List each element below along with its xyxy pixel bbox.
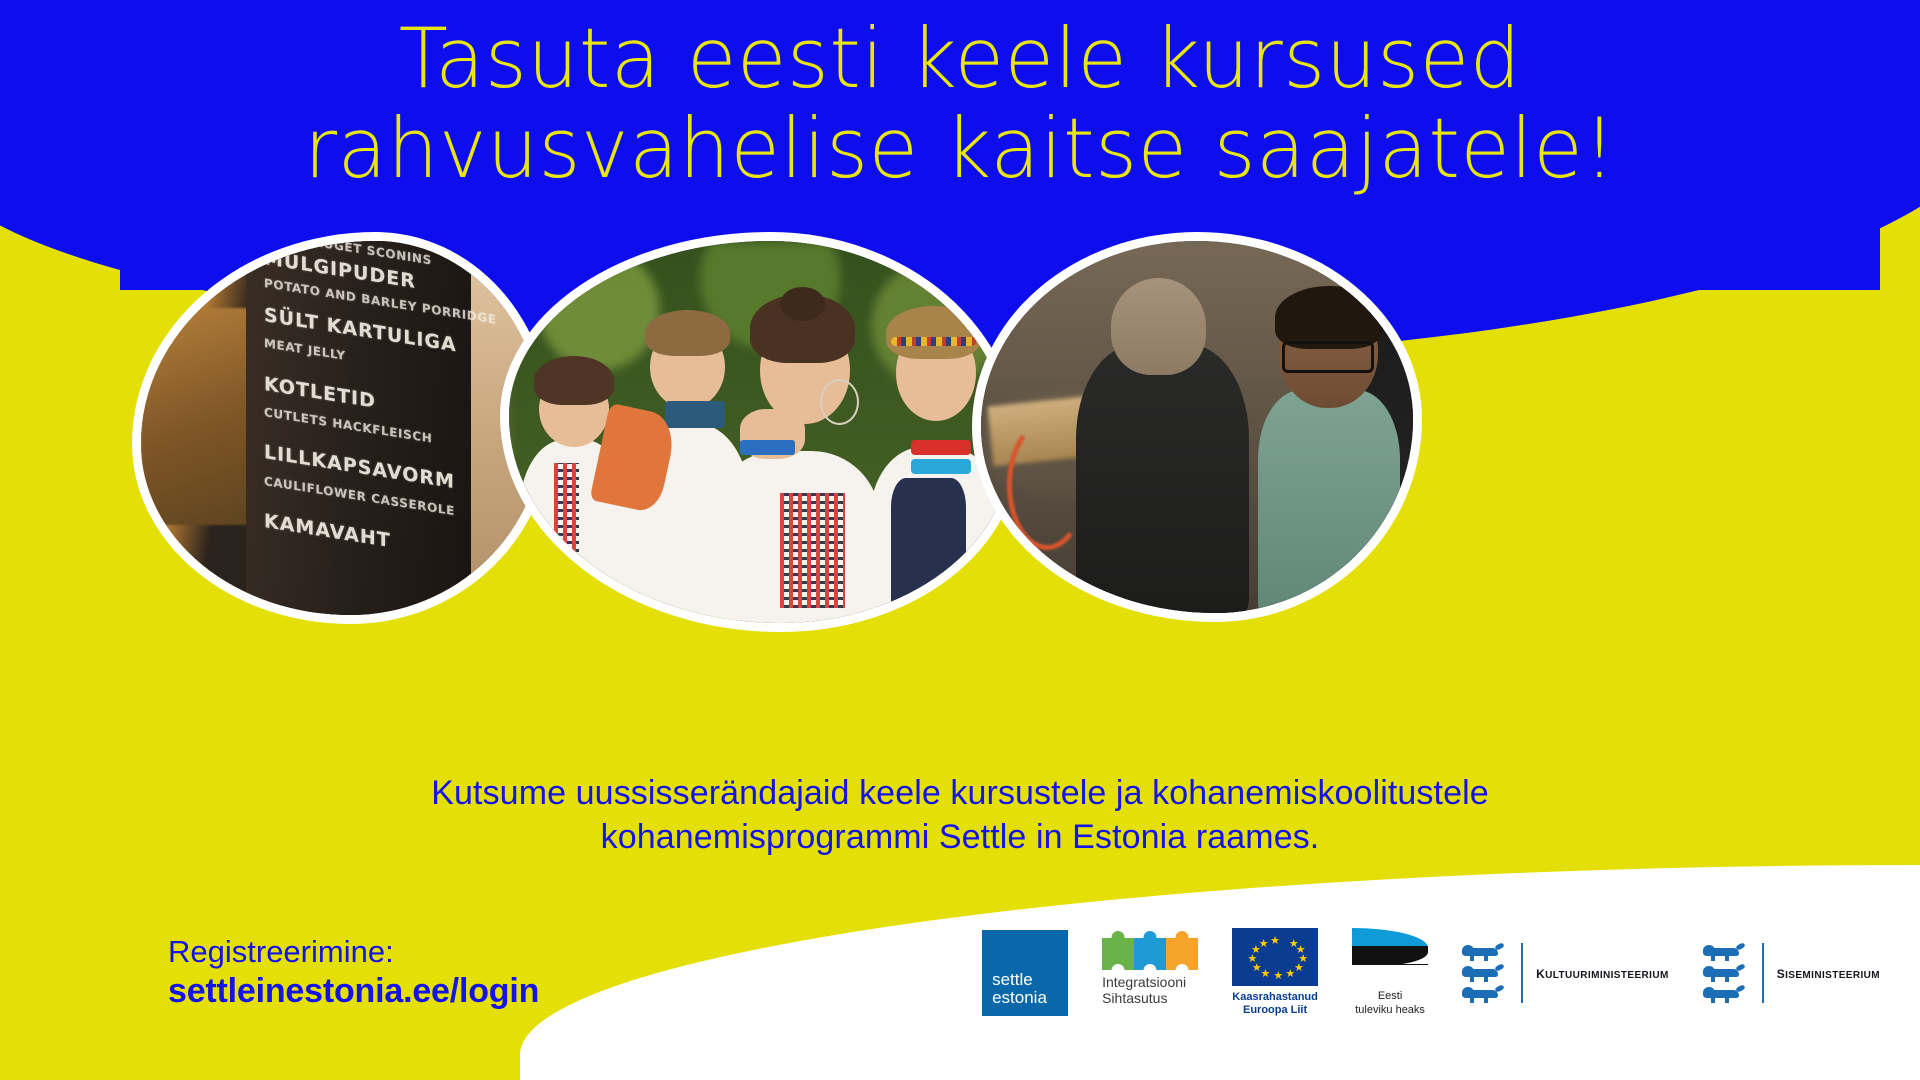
eu-star: ★ (1294, 963, 1304, 974)
subheading: Kutsume uussisserändajaid keele kursuste… (0, 772, 1920, 859)
registration-url[interactable]: settleinestonia.ee/login (168, 971, 539, 1011)
headline-line-1: Tasuta eesti keele kursused (29, 14, 1891, 104)
embroidery-trim (554, 463, 579, 593)
eu-line-2: Euroopa Liit (1232, 1004, 1318, 1017)
logo-row: settle estonia Integratsiooni Sihtasutus (520, 865, 1920, 1080)
puzzle-piece-blue (1134, 938, 1166, 970)
chalk-line: CUTLETS HACKFLEISCH (264, 405, 432, 446)
hoop-earring (820, 379, 859, 425)
curly-hair (1275, 286, 1383, 349)
eu-star: ★ (1260, 969, 1270, 980)
chalk-line: KOTLETID (264, 373, 376, 413)
neck-scarf (665, 401, 725, 428)
coat-of-arms-icon (1703, 944, 1749, 1002)
orange-cable (1007, 420, 1087, 550)
puzzle-piece-green (1102, 938, 1134, 970)
folk-dancers-photo (500, 232, 1020, 632)
bead-necklace (911, 459, 971, 474)
wooden-beam (141, 308, 262, 525)
integratsiooni-line-1: Integratsiooni (1102, 975, 1186, 991)
integratsiooni-line-2: Sihtasutus (1102, 991, 1186, 1007)
subheading-line-2: kohanemisprogrammi Settle in Estonia raa… (0, 816, 1920, 860)
eu-star: ★ (1285, 969, 1295, 980)
eu-logo-text: Kaasrahastanud Euroopa Liit (1232, 991, 1318, 1016)
lion-figure (1703, 965, 1749, 981)
siseministeerium-logo: Siseministeerium (1703, 943, 1880, 1003)
kultuuriministeerium-logo: Kultuuriministeerium (1462, 943, 1669, 1003)
settle-estonia-logo: settle estonia (982, 930, 1068, 1016)
folk-headband (891, 337, 976, 346)
eyeglasses (1282, 341, 1374, 373)
photo-collage: SHNGERUGET SCONINS MULGIPUDER POTATO AND… (0, 232, 1920, 632)
eu-line-1: Kaasrahastanud (1232, 991, 1318, 1004)
estonian-flag-wave-icon (1352, 928, 1428, 986)
lion-figure (1703, 986, 1749, 1002)
logo-band: settle estonia Integratsiooni Sihtasutus (520, 865, 1920, 1080)
lion-figure (1462, 986, 1508, 1002)
folk-dance-scene (509, 241, 1011, 623)
logo-divider (1762, 943, 1764, 1003)
chalkboard-menu-photo: SHNGERUGET SCONINS MULGIPUDER POTATO AND… (132, 232, 552, 624)
dancer-hair (534, 356, 614, 406)
subheading-line-1: Kutsume uussisserändajaid keele kursuste… (0, 772, 1920, 816)
eesti-line-1: Eesti (1355, 990, 1425, 1003)
wave-blue-stripe (1352, 928, 1428, 948)
dancer-hair (645, 310, 730, 356)
registration-block: Registreerimine: settleinestonia.ee/logi… (168, 934, 539, 1011)
person-head-back (1111, 278, 1206, 375)
social-gathering-photo (972, 232, 1422, 622)
eesti-tuleviku-heaks-logo: Eesti tuleviku heaks (1352, 928, 1428, 1016)
settle-logo-line-2: estonia (992, 989, 1068, 1007)
dancer-vest (891, 478, 966, 623)
bead-necklace (911, 440, 971, 455)
integratsiooni-logo-text: Integratsiooni Sihtasutus (1102, 975, 1186, 1007)
headline-line-2: rahvusvahelise kaitse saajatele! (29, 104, 1891, 194)
beaded-bracelet (740, 440, 795, 455)
dancer-hair (886, 306, 981, 359)
promotional-banner: Tasuta eesti keele kursused rahvusvaheli… (0, 0, 1920, 1080)
chalkboard: SHNGERUGET SCONINS MULGIPUDER POTATO AND… (246, 232, 471, 624)
chalk-line: KAMAVAHT (264, 510, 391, 552)
embroidery-trim (780, 493, 845, 608)
puzzle-piece-orange (1166, 938, 1198, 970)
ministry-name: Siseministeerium (1777, 963, 1880, 983)
settle-logo-line-1: settle (992, 971, 1068, 989)
settle-estonia-mark: settle estonia (982, 930, 1068, 1016)
person-black-tshirt (1076, 345, 1249, 620)
registration-label: Registreerimine: (168, 934, 539, 971)
chalkboard-scene: SHNGERUGET SCONINS MULGIPUDER POTATO AND… (141, 241, 543, 615)
lion-figure (1462, 965, 1508, 981)
person-green-polo (1258, 390, 1401, 621)
eu-star: ★ (1259, 939, 1269, 950)
puzzle-icon (1102, 938, 1198, 970)
eu-star: ★ (1273, 971, 1283, 982)
european-union-logo: ★ ★ ★ ★ ★ ★ ★ ★ ★ ★ ★ ★ Kaasrahastanud E… (1232, 928, 1318, 1016)
ministry-name: Kultuuriministeerium (1536, 963, 1669, 983)
lion-figure (1703, 944, 1749, 960)
eesti-logo-text: Eesti tuleviku heaks (1355, 990, 1425, 1016)
chalk-line: MEAT JELLY (264, 336, 346, 363)
page-title: Tasuta eesti keele kursused rahvusvaheli… (29, 14, 1891, 193)
logo-divider (1521, 943, 1523, 1003)
coat-of-arms-icon (1462, 944, 1508, 1002)
integratsiooni-sihtasutus-logo: Integratsiooni Sihtasutus (1102, 938, 1198, 1007)
eu-flag-icon: ★ ★ ★ ★ ★ ★ ★ ★ ★ ★ ★ ★ (1232, 928, 1318, 986)
lion-figure (1462, 944, 1508, 960)
gathering-scene (981, 241, 1413, 613)
wave-white-stripe (1352, 964, 1428, 985)
eu-star: ★ (1270, 936, 1280, 947)
eesti-line-2: tuleviku heaks (1355, 1004, 1425, 1017)
wave-black-stripe (1352, 946, 1428, 966)
